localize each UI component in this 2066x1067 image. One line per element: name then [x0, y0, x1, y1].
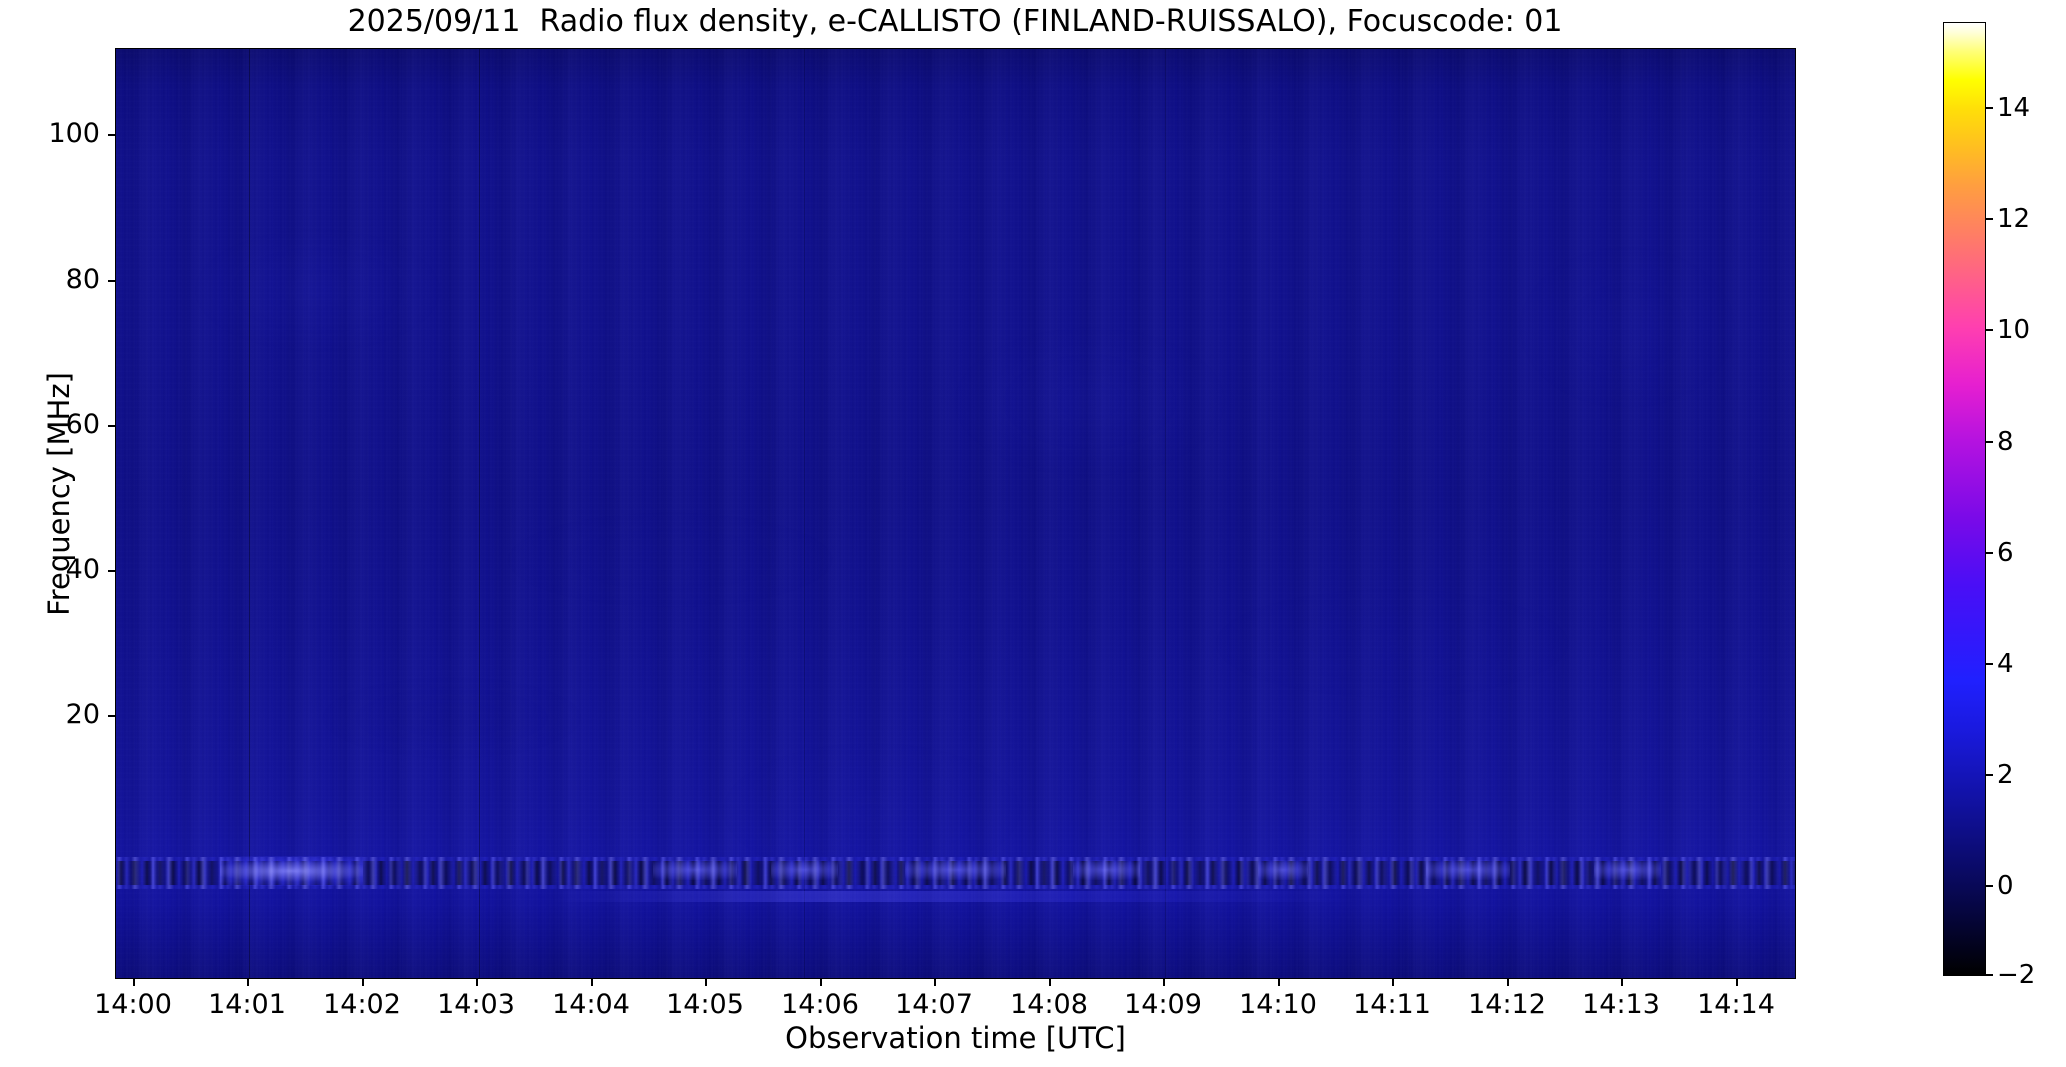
- x-tick-label: 14:07: [895, 990, 973, 1020]
- x-tick-mark: [362, 979, 364, 986]
- x-tick-label: 14:13: [1582, 990, 1660, 1020]
- y-tick-mark: [108, 425, 115, 427]
- y-tick-mark: [108, 715, 115, 717]
- x-tick-mark: [591, 979, 593, 986]
- colorbar-tick-label: −2: [1997, 962, 2035, 988]
- rfi-bright-segment: [1594, 860, 1661, 880]
- colorbar-tick-mark: [1986, 885, 1993, 887]
- colorbar-tick-mark: [1986, 774, 1993, 776]
- spectrogram-seam-line: [479, 49, 480, 978]
- y-tick-label: 100: [0, 120, 100, 147]
- x-tick-mark: [247, 979, 249, 986]
- colorbar-tick-label: 0: [1997, 873, 2014, 899]
- x-tick-mark: [1049, 979, 1051, 986]
- colorbar-tick-label: 10: [1997, 317, 2030, 343]
- colorbar-tick-mark: [1986, 974, 1993, 976]
- x-tick-label: 14:00: [94, 990, 172, 1020]
- x-tick-label: 14:01: [208, 990, 286, 1020]
- spectrogram-seam-line: [1165, 49, 1166, 978]
- x-tick-label: 14:14: [1697, 990, 1775, 1020]
- x-tick-label: 14:10: [1239, 990, 1317, 1020]
- x-tick-label: 14:05: [666, 990, 744, 1020]
- colorbar-tick-mark: [1986, 107, 1993, 109]
- x-tick-mark: [1736, 979, 1738, 986]
- page-title: 2025/09/11 Radio flux density, e-CALLIST…: [115, 4, 1795, 40]
- colorbar-tick-mark: [1986, 552, 1993, 554]
- y-tick-mark: [108, 134, 115, 136]
- colorbar-tick-label: 14: [1997, 95, 2030, 121]
- x-tick-label: 14:12: [1468, 990, 1546, 1020]
- x-axis-title: Observation time [UTC]: [115, 1022, 1796, 1054]
- colorbar-tick-label: 8: [1997, 429, 2014, 455]
- x-tick-mark: [934, 979, 936, 986]
- y-axis-title: Frequency [MHz]: [43, 214, 75, 774]
- colorbar-tick-label: 4: [1997, 651, 2014, 677]
- y-tick-mark: [108, 280, 115, 282]
- spectrogram-seam-line: [249, 49, 250, 978]
- x-tick-mark: [1392, 979, 1394, 986]
- x-tick-label: 14:08: [1010, 990, 1088, 1020]
- rfi-bright-segment: [1258, 860, 1308, 880]
- x-tick-mark: [1621, 979, 1623, 986]
- radio-spectrogram-figure: 2025/09/11 Radio flux density, e-CALLIST…: [0, 0, 2066, 1067]
- colorbar-tick-label: 12: [1997, 206, 2030, 232]
- x-tick-mark: [1163, 979, 1165, 986]
- rfi-bright-knot: [220, 856, 363, 886]
- x-tick-label: 14:11: [1353, 990, 1431, 1020]
- x-tick-label: 14:04: [552, 990, 630, 1020]
- x-tick-mark: [820, 979, 822, 986]
- colorbar-tick-mark: [1986, 441, 1993, 443]
- spectrogram-plot-area[interactable]: [115, 48, 1796, 979]
- x-tick-mark: [1278, 979, 1280, 986]
- colorbar-tick-mark: [1986, 663, 1993, 665]
- rfi-bright-segment: [771, 860, 838, 880]
- rfi-bright-segment: [653, 860, 737, 880]
- x-tick-mark: [476, 979, 478, 986]
- x-tick-label: 14:02: [323, 990, 401, 1020]
- spectrogram-channel-striations: [116, 49, 1795, 978]
- x-tick-mark: [705, 979, 707, 986]
- x-tick-label: 14:09: [1124, 990, 1202, 1020]
- y-tick-mark: [108, 570, 115, 572]
- x-tick-label: 14:03: [437, 990, 515, 1020]
- rfi-bright-segment: [905, 860, 1006, 880]
- x-tick-mark: [1507, 979, 1509, 986]
- rfi-bright-segment: [1426, 860, 1510, 880]
- x-tick-mark: [133, 979, 135, 986]
- colorbar-tick-mark: [1986, 329, 1993, 331]
- spectrogram-seam-line: [804, 49, 805, 978]
- colorbar-tick-mark: [1986, 218, 1993, 220]
- x-tick-label: 14:06: [781, 990, 859, 1020]
- colorbar-tick-label: 2: [1997, 762, 2014, 788]
- colorbar[interactable]: [1943, 22, 1986, 976]
- weak-secondary-band: [553, 891, 1359, 902]
- rfi-bright-segment: [1073, 860, 1140, 880]
- colorbar-tick-label: 6: [1997, 540, 2014, 566]
